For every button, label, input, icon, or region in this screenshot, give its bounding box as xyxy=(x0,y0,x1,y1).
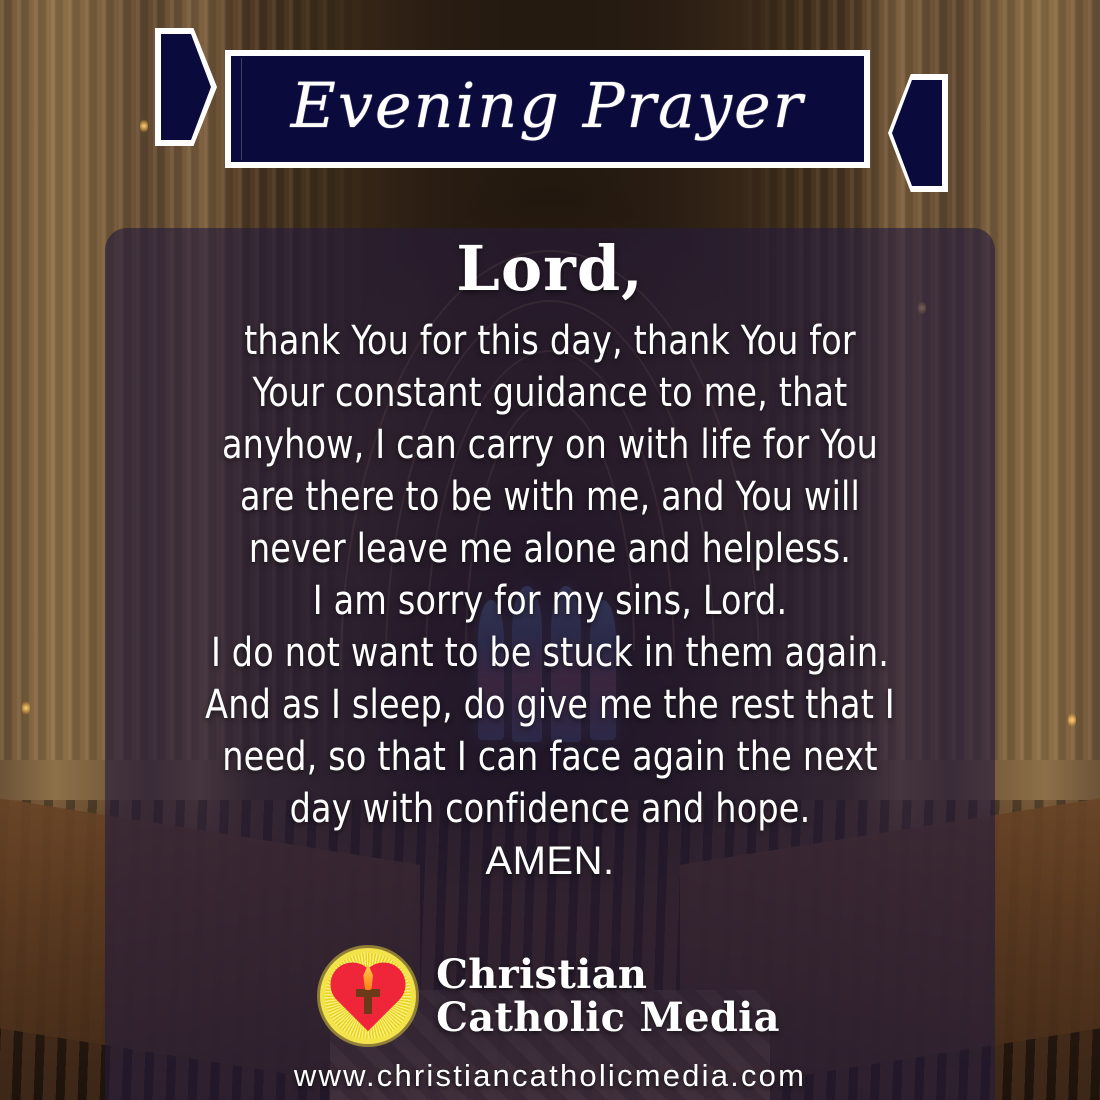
candle-spark-icon xyxy=(1068,712,1076,728)
prayer-line: anyhow, I can carry on with life for You xyxy=(136,419,964,471)
banner-box: Evening Prayer xyxy=(225,50,870,168)
prayer-line: I do not want to be stuck in them again. xyxy=(136,627,964,679)
website-url[interactable]: www.christiancatholicmedia.com xyxy=(0,1058,1100,1094)
brand-name-line-1: Christian xyxy=(436,953,780,996)
prayer-body: thank You for this day, thank You for Yo… xyxy=(136,315,964,835)
ribbon-tail-right-icon xyxy=(888,74,948,192)
prayer-line: I am sorry for my sins, Lord. xyxy=(136,575,964,627)
prayer-line: need, so that I can face again the next xyxy=(136,731,964,783)
ribbon-tail-left-icon xyxy=(155,28,217,146)
candle-spark-icon xyxy=(22,700,30,716)
prayer-card: Evening Prayer Lord, thank You for this … xyxy=(0,0,1100,1100)
prayer-line: Your constant guidance to me, that xyxy=(136,367,964,419)
brand-lockup: Christian Catholic Media xyxy=(0,948,1100,1044)
prayer-line: never leave me alone and helpless. xyxy=(136,523,964,575)
prayer-block: Lord, thank You for this day, thank You … xyxy=(105,236,995,887)
ribbon-tail-right-fill xyxy=(892,80,942,186)
brand-name: Christian Catholic Media xyxy=(436,953,780,1039)
sacred-heart-icon xyxy=(320,948,416,1044)
brand-name-line-2: Catholic Media xyxy=(436,996,780,1039)
prayer-line: thank You for this day, thank You for xyxy=(136,315,964,367)
prayer-line: are there to be with me, and You will xyxy=(136,471,964,523)
prayer-line: day with confidence and hope. xyxy=(136,783,964,835)
ribbon-tail-left-fill xyxy=(161,34,211,140)
prayer-line: And as I sleep, do give me the rest that… xyxy=(136,679,964,731)
prayer-salutation: Lord, xyxy=(105,236,995,301)
title-banner: Evening Prayer xyxy=(0,0,1100,210)
banner-title-text: Evening Prayer xyxy=(231,56,864,162)
prayer-amen: AMEN. xyxy=(105,835,995,887)
